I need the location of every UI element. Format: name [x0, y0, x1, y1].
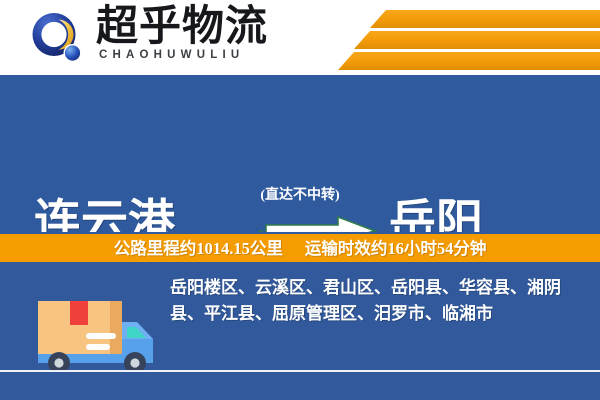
route-metrics-band: 公路里程约1014.15公里 运输时效约16小时54分钟: [0, 232, 600, 264]
route-hero: 连云港 岳阳 (直达不中转) 【往返运输】: [0, 75, 600, 232]
brand-name-cn: 超乎物流: [96, 4, 268, 50]
panel-footer-strip: [0, 372, 600, 400]
delivery-truck-icon: [24, 280, 164, 380]
chaohu-logistics-logo-icon: [29, 11, 87, 66]
service-areas-list: 岳阳楼区、云溪区、君山区、岳阳县、华容县、湘阴县、平江县、屈原管理区、汨罗市、临…: [170, 275, 582, 327]
poster-header: 超乎物流 CHAOHUWULIU: [0, 0, 600, 75]
direct-route-note: (直达不中转): [222, 187, 378, 204]
orange-speed-stripes-icon: [330, 0, 600, 75]
distance-label: 公路里程约1014.15公里: [114, 239, 283, 259]
logistics-route-poster: 超乎物流 CHAOHUWULIU 连云港 岳阳 (直达不中转): [0, 0, 600, 400]
duration-label: 运输时效约16小时54分钟: [305, 239, 487, 259]
brand-name-en: CHAOHUWULIU: [99, 49, 244, 62]
